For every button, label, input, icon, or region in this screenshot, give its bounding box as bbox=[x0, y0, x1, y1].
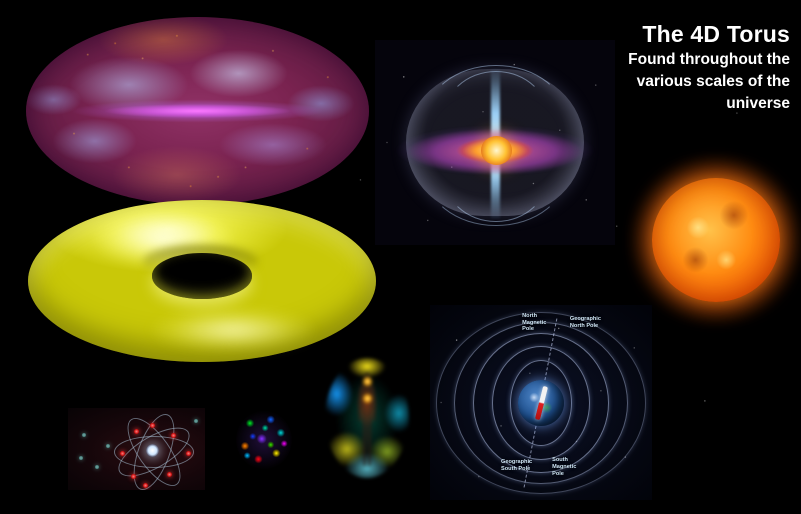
background-atom bbox=[79, 456, 83, 460]
map-speckle-overlay bbox=[26, 17, 369, 205]
human-silhouette bbox=[352, 372, 382, 466]
electron-dot bbox=[131, 474, 136, 479]
poster-canvas: North Magnetic Pole Geographic North Pol… bbox=[0, 0, 801, 514]
sun-disc bbox=[652, 178, 780, 302]
atom-panel bbox=[68, 408, 205, 490]
background-atom bbox=[194, 419, 198, 423]
earth-magnetosphere-panel: North Magnetic Pole Geographic North Pol… bbox=[430, 305, 652, 500]
electron-dot bbox=[171, 433, 176, 438]
electron-dot bbox=[167, 472, 172, 477]
human-biofield-aura bbox=[325, 358, 409, 478]
label-geographic-north-pole: Geographic North Pole bbox=[570, 316, 601, 330]
label-north-magnetic-pole: North Magnetic Pole bbox=[522, 313, 546, 333]
page-title: The 4D Torus bbox=[522, 22, 790, 48]
electron-dot bbox=[120, 451, 125, 456]
chakra-heart bbox=[363, 394, 372, 403]
electron-dot bbox=[150, 423, 155, 428]
subtitle-line-3: universe bbox=[522, 95, 790, 114]
electron-dot bbox=[186, 451, 191, 456]
title-block: The 4D Torus Found throughout the variou… bbox=[522, 22, 790, 113]
background-atom bbox=[82, 433, 86, 437]
yellow-torus-render bbox=[28, 200, 376, 362]
chakra-crown bbox=[363, 377, 372, 386]
all-sky-galactic-map bbox=[26, 17, 369, 205]
background-atom bbox=[106, 444, 110, 448]
background-atom bbox=[95, 465, 99, 469]
sun-image bbox=[646, 172, 786, 308]
subtitle-line-2: various scales of the bbox=[522, 73, 790, 92]
galactic-core bbox=[481, 136, 512, 165]
protein-capsid-cluster bbox=[236, 410, 292, 470]
torus-highlight-lower bbox=[153, 309, 313, 351]
subtitle-line-1: Found throughout the bbox=[522, 51, 790, 70]
label-geographic-south-pole: Geographic South Pole bbox=[501, 459, 532, 473]
label-south-magnetic-pole: South Magnetic Pole bbox=[552, 457, 576, 477]
torus-hole bbox=[152, 253, 253, 298]
